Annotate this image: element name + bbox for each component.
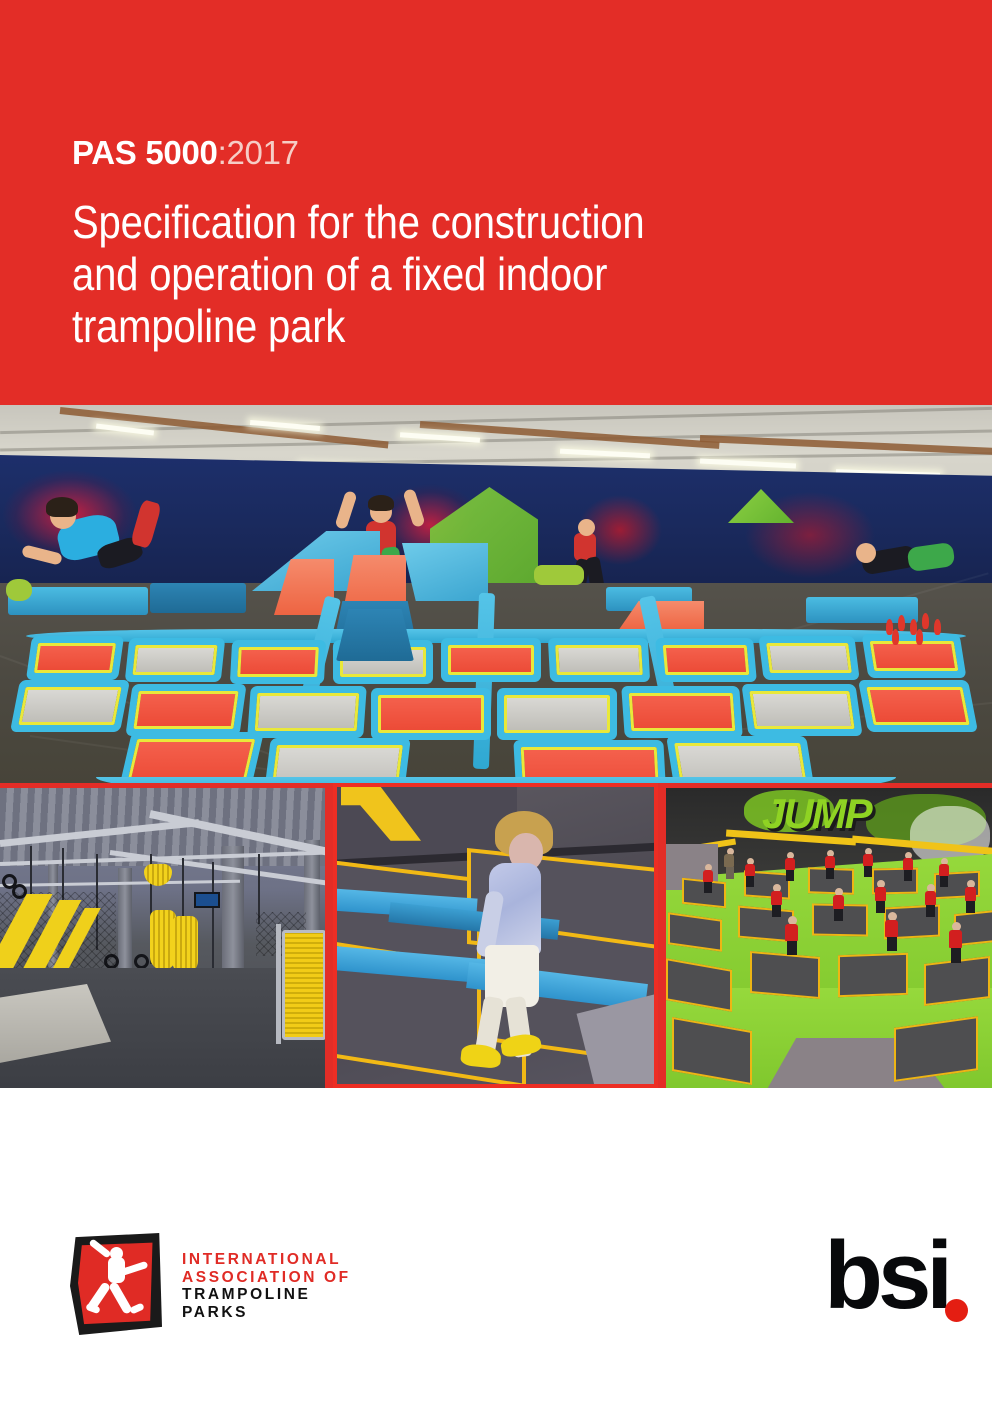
page-title-line-2: and operation of a fixed indoor (72, 248, 768, 300)
iatp-wordmark: INTERNATIONAL ASSOCIATION OF TRAMPOLINE … (182, 1251, 351, 1321)
mural-figure-left (14, 491, 184, 581)
trampoline-arena (6, 573, 986, 773)
iatp-line-1: INTERNATIONAL (182, 1251, 351, 1269)
bsi-red-dot-icon (945, 1299, 968, 1322)
thumbnail-photo-strip: JUMP (0, 783, 992, 1088)
ninja-obstacle-course-photo (0, 788, 325, 1088)
title-banner: PAS 5000:2017 Specification for the cons… (0, 0, 992, 405)
page-title-line-1: Specification for the construction (72, 196, 768, 248)
footer-logos: INTERNATIONAL ASSOCIATION OF TRAMPOLINE … (0, 1088, 992, 1403)
jumping-figure-icon (82, 1243, 150, 1321)
trampoline-arena-photo (0, 405, 992, 783)
bsi-logo: bsi (784, 1236, 974, 1346)
iatp-logo: INTERNATIONAL ASSOCIATION OF TRAMPOLINE … (68, 1231, 351, 1341)
bsi-wordmark: bsi (824, 1228, 948, 1324)
page-title: Specification for the construction and o… (72, 196, 768, 352)
standard-number: PAS 5000 (72, 134, 218, 171)
green-trampoline-park-photo: JUMP (666, 788, 992, 1088)
iatp-line-4: PARKS (182, 1304, 351, 1322)
child-jumping-photo (333, 783, 658, 1088)
child-figure (459, 811, 569, 1071)
graffiti-text: JUMP (762, 790, 871, 838)
document-cover-page: PAS 5000:2017 Specification for the cons… (0, 0, 992, 1403)
iatp-line-3: TRAMPOLINE (182, 1286, 351, 1304)
iatp-logo-mark (68, 1231, 168, 1341)
standard-year: :2017 (218, 134, 299, 171)
page-title-line-3: trampoline park (72, 300, 768, 352)
standard-reference: PAS 5000:2017 (72, 134, 299, 172)
iatp-line-2: ASSOCIATION OF (182, 1269, 351, 1287)
